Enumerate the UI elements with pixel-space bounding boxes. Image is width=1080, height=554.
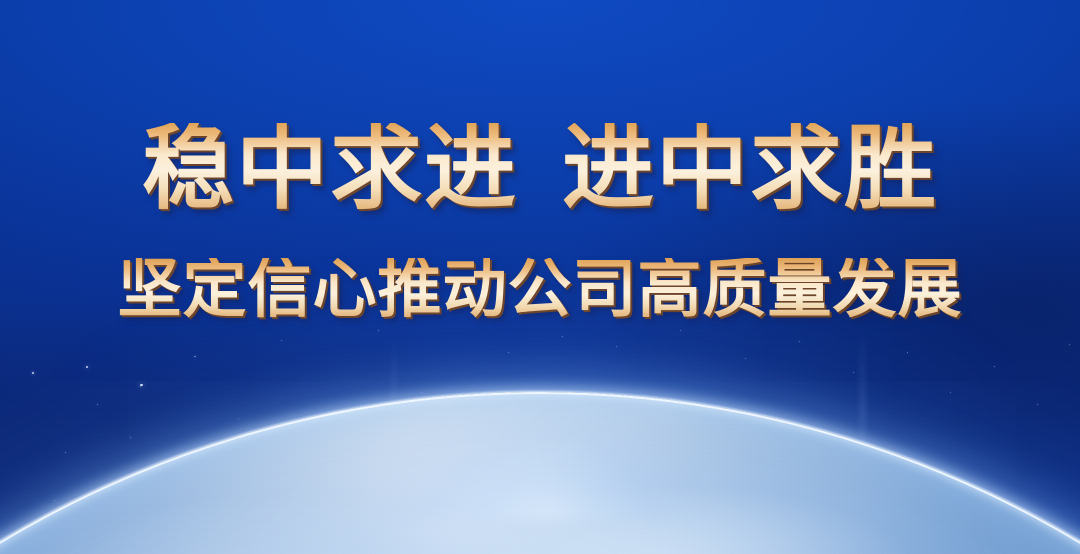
poster-banner: 稳中求进进中求胜 坚定信心推动公司高质量发展	[0, 0, 1080, 554]
atmosphere-plume-glow	[380, 300, 710, 520]
headline-segment-1: 稳中求进	[142, 115, 518, 222]
main-headline: 稳中求进进中求胜	[0, 123, 1080, 215]
headline-segment-2: 进中求胜	[562, 115, 938, 222]
sub-headline: 坚定信心推动公司高质量发展	[0, 258, 1080, 322]
